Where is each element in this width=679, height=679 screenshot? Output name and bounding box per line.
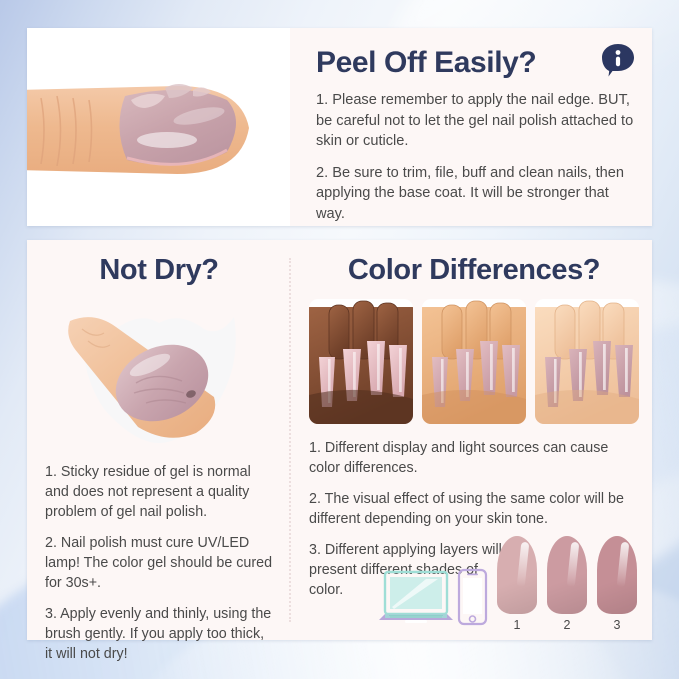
smartphone-icon xyxy=(459,570,486,624)
not-dry-photo xyxy=(45,293,273,448)
hand-light-skin-illustration xyxy=(535,299,639,424)
peel-off-photo xyxy=(27,28,290,226)
color-differences-heading: Color Differences? xyxy=(309,254,639,287)
sticky-gel-residue-illustration xyxy=(64,293,254,448)
finger-peeling-polish-illustration xyxy=(27,28,290,226)
hand-deep-skin-illustration xyxy=(309,299,413,424)
not-dry-panel: Not Dry? xyxy=(27,240,289,640)
devices-illustration xyxy=(379,568,489,634)
not-dry-para-3: 3. Apply evenly and thinly, using the br… xyxy=(45,604,273,664)
hand-medium-skin-illustration xyxy=(422,299,526,424)
shade-swatch-3-nail xyxy=(597,536,637,614)
shade-swatch-2-nail xyxy=(547,536,587,614)
shade-swatch-2: 2 xyxy=(547,536,587,632)
info-speech-bubble-icon[interactable] xyxy=(600,42,636,78)
shade-swatch-2-label: 2 xyxy=(547,618,587,632)
shade-swatch-1: 1 xyxy=(497,536,537,632)
shade-swatch-1-label: 1 xyxy=(497,618,537,632)
peel-off-text: Peel Off Easily? 1. Please remember to a… xyxy=(290,28,652,226)
shade-swatch-1-nail xyxy=(497,536,537,614)
bottom-panels: Not Dry? xyxy=(27,240,652,640)
not-dry-para-2: 2. Nail polish must cure UV/LED lamp! Th… xyxy=(45,533,273,593)
peel-off-para-1: 1. Please remember to apply the nail edg… xyxy=(316,90,636,152)
hand-deep-skin-tone-thumbnail xyxy=(309,299,413,424)
hand-thumbnail-row xyxy=(309,299,639,424)
not-dry-heading: Not Dry? xyxy=(45,254,273,287)
hand-medium-skin-tone-thumbnail xyxy=(422,299,526,424)
peel-off-panel: Peel Off Easily? 1. Please remember to a… xyxy=(27,28,652,226)
not-dry-para-1: 1. Sticky residue of gel is normal and d… xyxy=(45,462,273,522)
color-diff-para-2: 2. The visual effect of using the same c… xyxy=(309,489,639,529)
color-diff-para-1: 1. Different display and light sources c… xyxy=(309,438,639,478)
hand-light-skin-tone-thumbnail xyxy=(535,299,639,424)
infographic-page: Peel Off Easily? 1. Please remember to a… xyxy=(0,0,679,679)
laptop-icon xyxy=(379,572,453,623)
peel-off-heading: Peel Off Easily? xyxy=(316,46,636,80)
shade-swatch-3-label: 3 xyxy=(597,618,637,632)
peel-off-para-2: 2. Be sure to trim, file, buff and clean… xyxy=(316,163,636,225)
color-differences-panel: Color Differences? xyxy=(291,240,653,640)
shade-swatch-3: 3 xyxy=(597,536,637,632)
shade-swatch-group: 1 2 3 xyxy=(493,536,641,632)
